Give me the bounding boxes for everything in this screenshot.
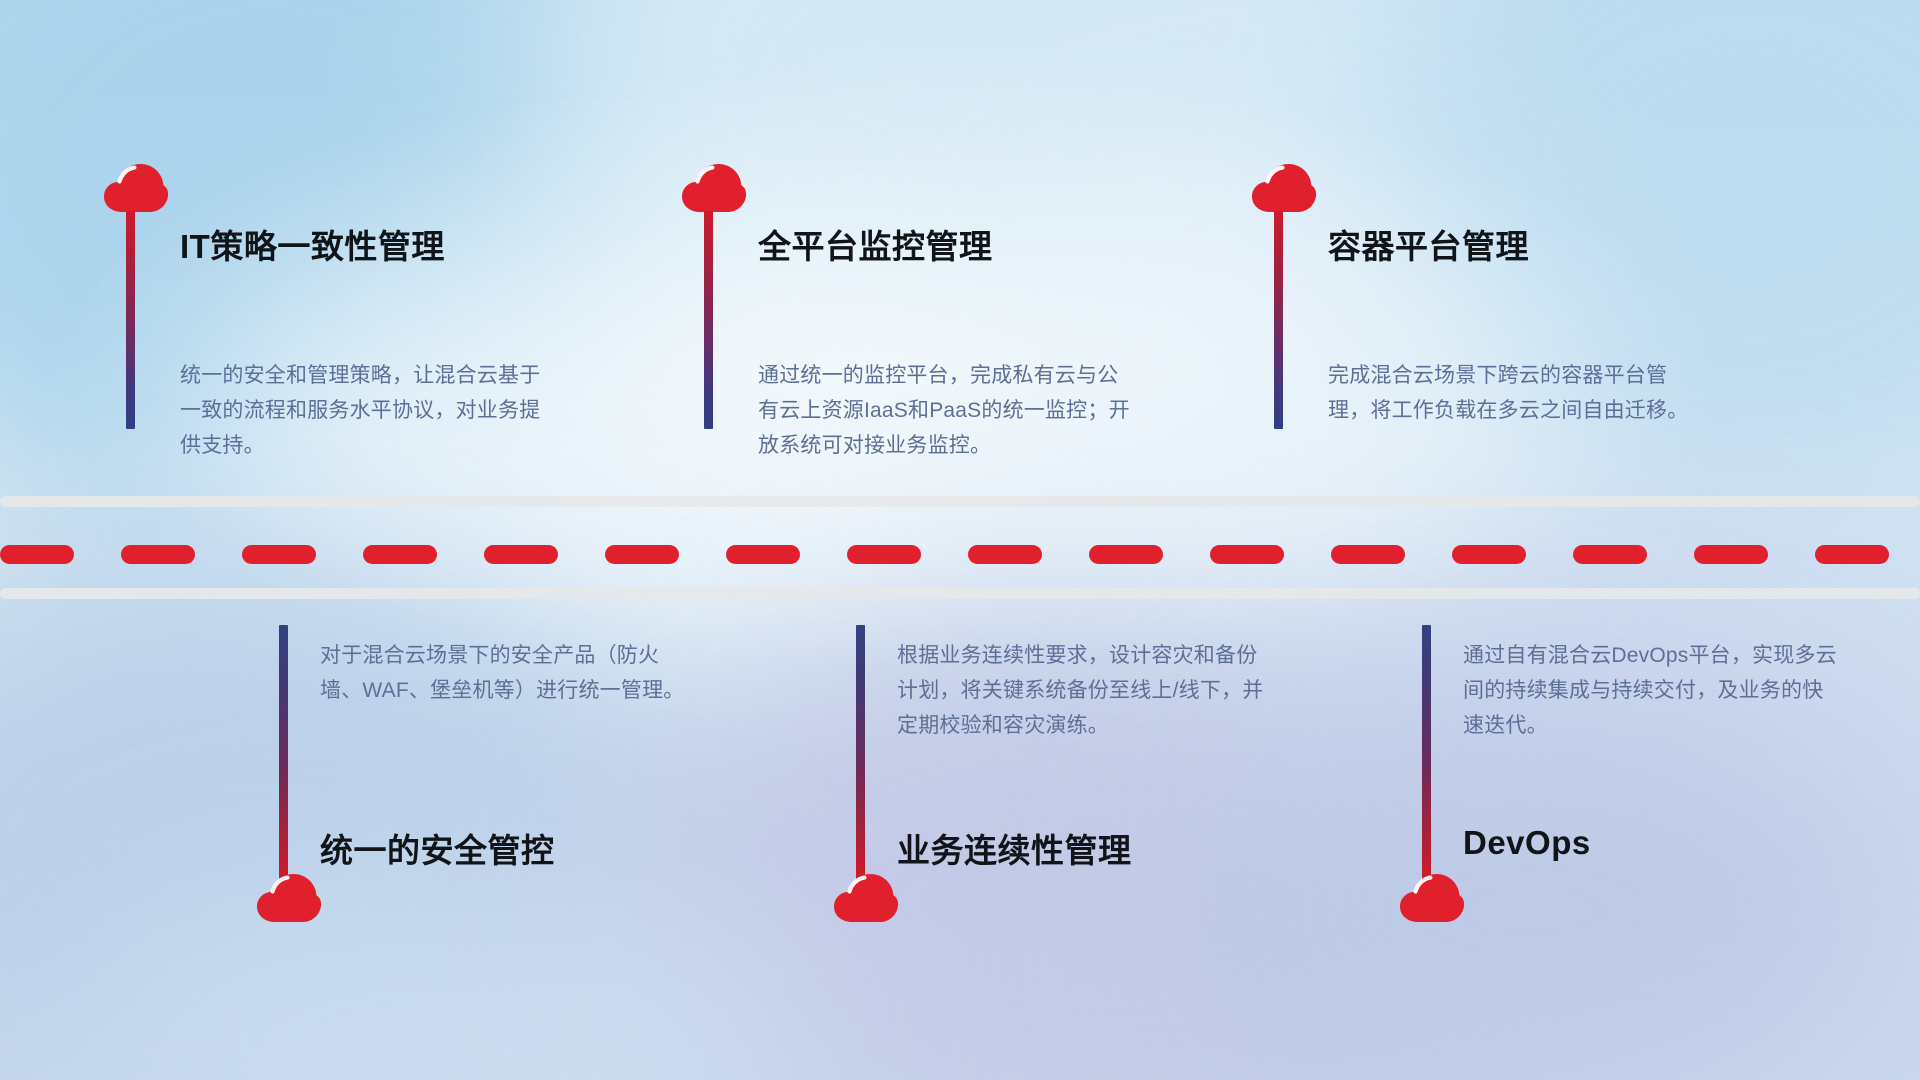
timeline-bar-2 — [704, 211, 713, 429]
divider-dash — [605, 545, 679, 564]
timeline-bar-6 — [1422, 625, 1431, 880]
cloud-icon — [1250, 163, 1318, 213]
divider-dash — [1815, 545, 1889, 564]
feature-heading-6: DevOps — [1463, 824, 1591, 862]
cloud-icon — [1398, 873, 1466, 923]
feature-heading-5: 业务连续性管理 — [897, 824, 1132, 872]
divider-dash — [1573, 545, 1647, 564]
divider-dash — [847, 545, 921, 564]
divider-dash — [242, 545, 316, 564]
divider-dashed-line — [0, 545, 1920, 564]
timeline-bar-3 — [1274, 211, 1283, 429]
feature-body-3: 完成混合云场景下跨云的容器平台管理，将工作负载在多云之间自由迁移。 — [1328, 358, 1708, 428]
divider-dash — [121, 545, 195, 564]
divider-dash — [0, 545, 74, 564]
cloud-icon — [255, 873, 323, 923]
cloud-icon — [102, 163, 170, 213]
feature-heading-4: 统一的安全管控 — [320, 824, 555, 872]
divider-dash — [1452, 545, 1526, 564]
timeline-bar-5 — [856, 625, 865, 880]
divider-dash — [968, 545, 1042, 564]
feature-body-2: 通过统一的监控平台，完成私有云与公有云上资源IaaS和PaaS的统一监控；开放系… — [758, 358, 1138, 463]
divider-dash — [1089, 545, 1163, 564]
divider-dash — [1694, 545, 1768, 564]
feature-body-4: 对于混合云场景下的安全产品（防火墙、WAF、堡垒机等）进行统一管理。 — [320, 638, 690, 708]
divider-line-bottom — [0, 588, 1920, 599]
feature-body-6: 通过自有混合云DevOps平台，实现多云间的持续集成与持续交付，及业务的快速迭代… — [1463, 638, 1843, 743]
cloud-icon — [680, 163, 748, 213]
feature-body-1: 统一的安全和管理策略，让混合云基于一致的流程和服务水平协议，对业务提供支持。 — [180, 358, 550, 463]
timeline-bar-1 — [126, 211, 135, 429]
feature-heading-3: 容器平台管理 — [1328, 220, 1529, 268]
divider-line-top — [0, 496, 1920, 507]
infographic-canvas: IT策略一致性管理 统一的安全和管理策略，让混合云基于一致的流程和服务水平协议，… — [0, 0, 1920, 1080]
feature-heading-1: IT策略一致性管理 — [180, 220, 445, 268]
divider-dash — [484, 545, 558, 564]
feature-heading-2: 全平台监控管理 — [758, 220, 993, 268]
divider-dash — [1210, 545, 1284, 564]
cloud-icon — [832, 873, 900, 923]
divider-dash — [1331, 545, 1405, 564]
timeline-bar-4 — [279, 625, 288, 880]
feature-body-5: 根据业务连续性要求，设计容灾和备份计划，将关键系统备份至线上/线下，并定期校验和… — [897, 638, 1277, 743]
divider-dash — [726, 545, 800, 564]
divider-dash — [363, 545, 437, 564]
